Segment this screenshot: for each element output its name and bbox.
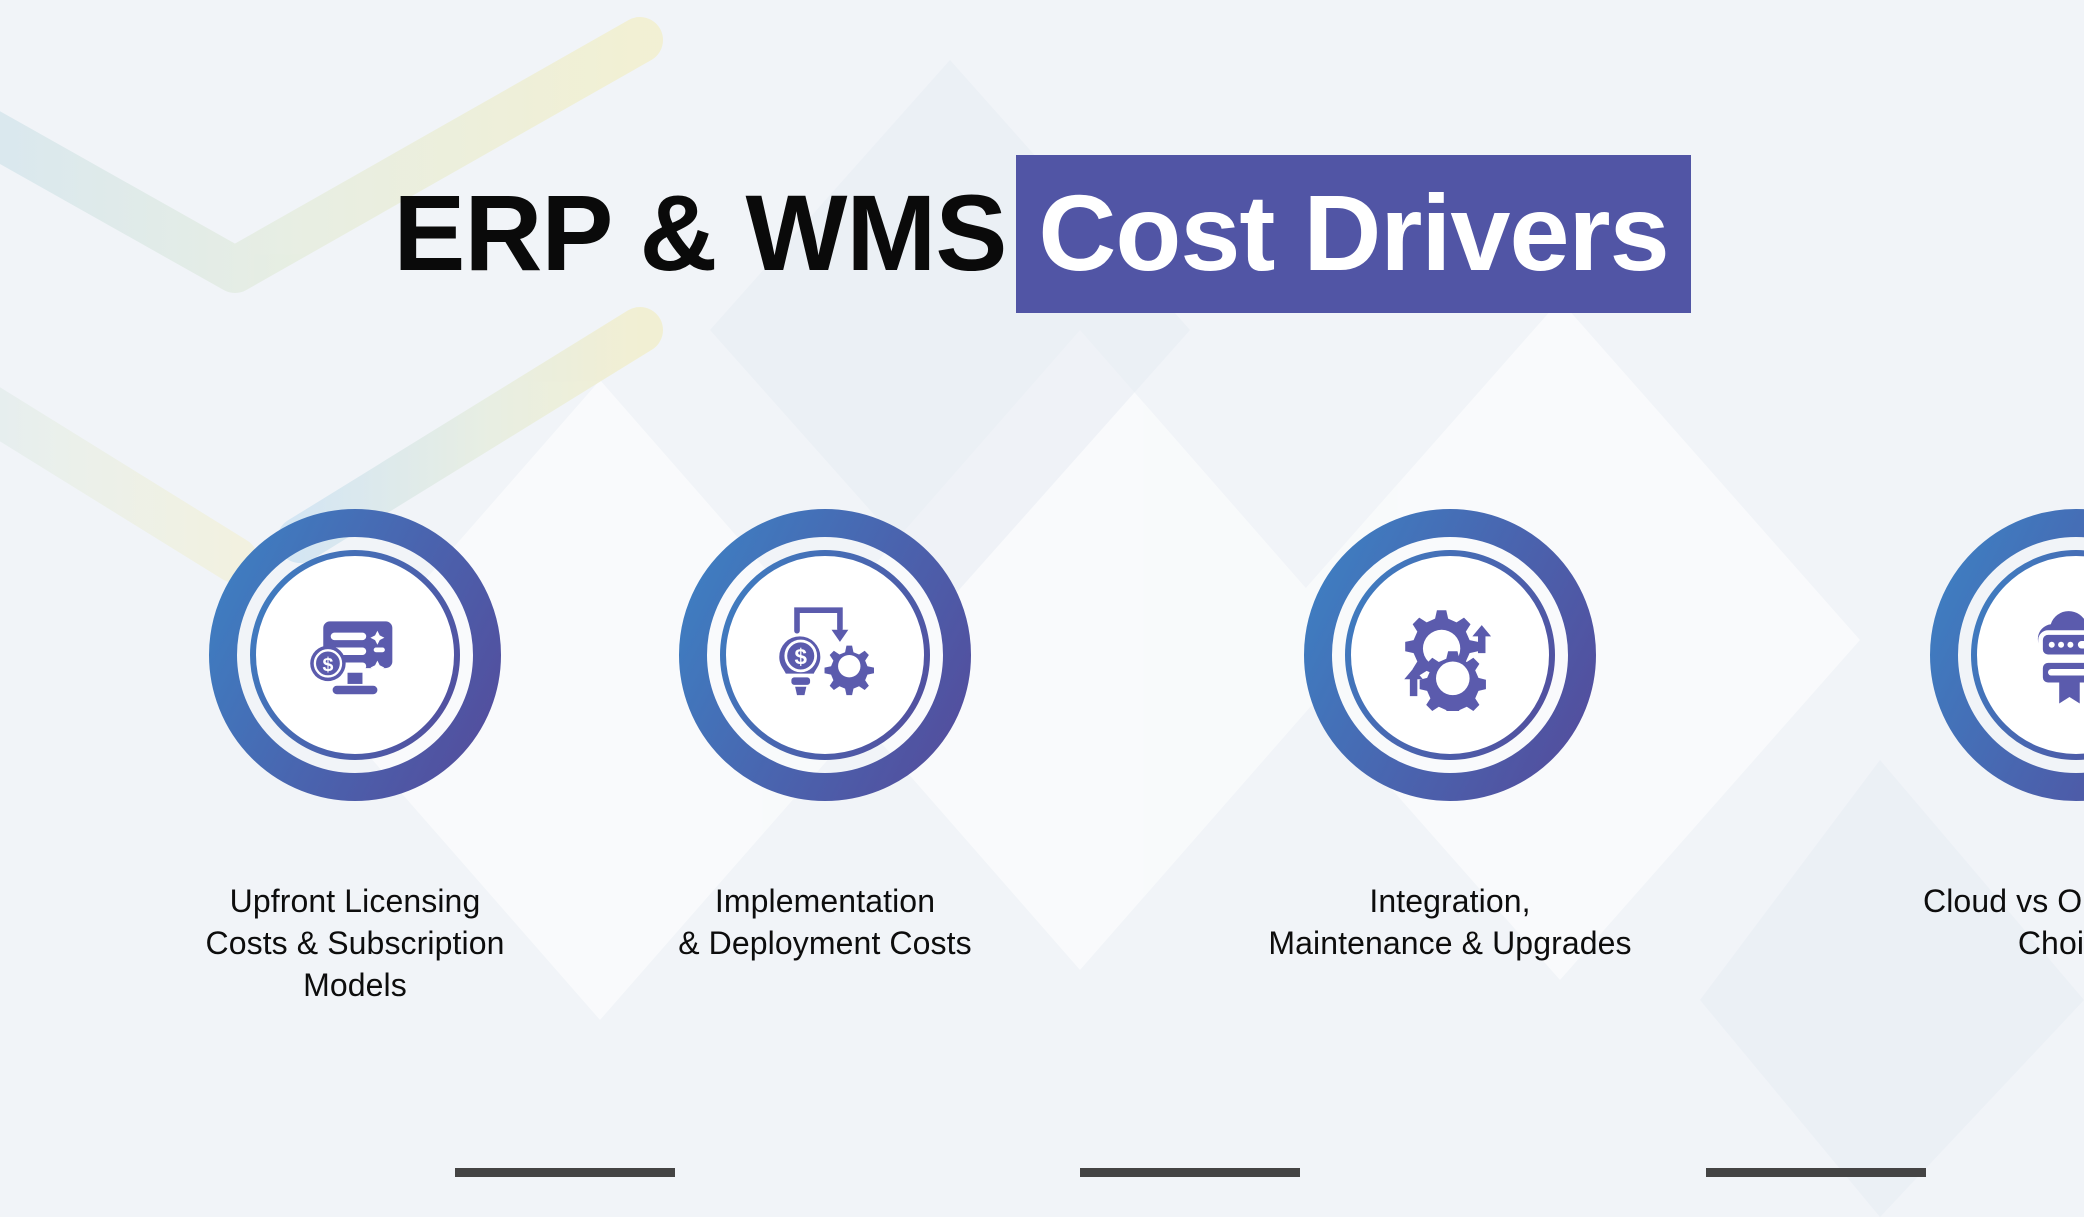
caption-line: Models	[145, 964, 565, 1006]
connector-1-2	[455, 1168, 675, 1177]
step-node-2[interactable]: $	[675, 505, 975, 805]
step-node-1[interactable]: $	[205, 505, 505, 805]
step-caption-3: Integration, Maintenance & Upgrades	[1240, 880, 1660, 964]
step-node-3[interactable]	[1300, 505, 1600, 805]
caption-line: Integration,	[1240, 880, 1660, 922]
page-title-highlight: Cost Drivers	[1016, 155, 1690, 313]
step-caption-2: Implementation & Deployment Costs	[615, 880, 1035, 964]
steps-row: $ $	[0, 505, 2084, 805]
gears-upgrade-arrows-icon	[1368, 573, 1532, 737]
caption-line: & Deployment Costs	[615, 922, 1035, 964]
caption-line: Costs & Subscription	[145, 922, 565, 964]
cloud-server-icon	[1994, 573, 2084, 737]
step-node-4[interactable]	[1926, 505, 2084, 805]
caption-line: Upfront Licensing	[145, 880, 565, 922]
step-caption-4: Cloud vs On-Premise Choices	[1866, 880, 2084, 964]
connector-2-3	[1080, 1168, 1300, 1177]
svg-text:$: $	[322, 654, 333, 676]
page-title: ERP & WMSCost Drivers	[0, 155, 2084, 313]
lightbulb-dollar-gear-icon: $	[743, 573, 907, 737]
caption-line: Maintenance & Upgrades	[1240, 922, 1660, 964]
caption-line: Cloud vs On-Premise	[1866, 880, 2084, 922]
caption-line: Implementation	[615, 880, 1035, 922]
page-title-plain: ERP & WMS	[393, 179, 1020, 287]
step-caption-1: Upfront Licensing Costs & Subscription M…	[145, 880, 565, 1007]
svg-text:$: $	[795, 644, 808, 669]
connector-3-4	[1706, 1168, 1926, 1177]
monitor-dollar-icon: $	[273, 573, 437, 737]
caption-line: Choices	[1866, 922, 2084, 964]
